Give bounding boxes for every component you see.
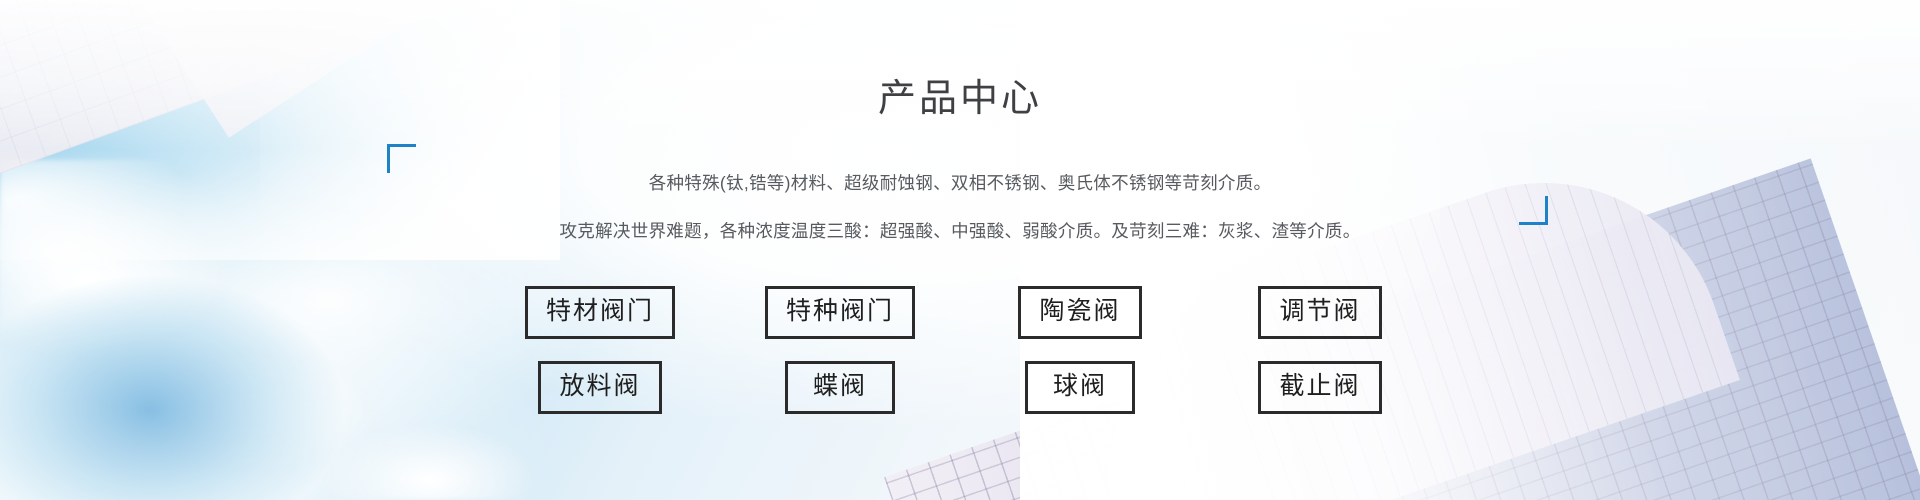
hero-description-line-1: 各种特殊(钛,锆等)材料、超级耐蚀钢、双相不锈钢、奥氏体不锈钢等苛刻介质。 — [0, 170, 1920, 196]
product-category-grid: 特材阀门 特种阀门 陶瓷阀 调节阀 放料阀 蝶阀 球阀 截止阀 — [480, 286, 1440, 414]
bracket-bottom-right-icon — [1519, 196, 1548, 225]
category-button-control-valve[interactable]: 调节阀 — [1258, 286, 1381, 339]
category-button-ball-valve[interactable]: 球阀 — [1025, 361, 1135, 414]
hero-description-line-2: 攻克解决世界难题，各种浓度温度三酸：超强酸、中强酸、弱酸介质。及苛刻三难：灰浆、… — [0, 218, 1920, 244]
hero-banner: 产品中心 各种特殊(钛,锆等)材料、超级耐蚀钢、双相不锈钢、奥氏体不锈钢等苛刻介… — [0, 0, 1920, 500]
category-button-techai-valve[interactable]: 特材阀门 — [525, 286, 675, 339]
hero-content: 产品中心 各种特殊(钛,锆等)材料、超级耐蚀钢、双相不锈钢、奥氏体不锈钢等苛刻介… — [0, 0, 1920, 500]
category-button-discharge-valve[interactable]: 放料阀 — [538, 361, 661, 414]
page-title: 产品中心 — [0, 77, 1920, 123]
category-button-ceramic-valve[interactable]: 陶瓷阀 — [1018, 286, 1141, 339]
category-button-butterfly-valve[interactable]: 蝶阀 — [785, 361, 895, 414]
category-button-special-valve[interactable]: 特种阀门 — [765, 286, 915, 339]
category-button-globe-valve[interactable]: 截止阀 — [1258, 361, 1381, 414]
